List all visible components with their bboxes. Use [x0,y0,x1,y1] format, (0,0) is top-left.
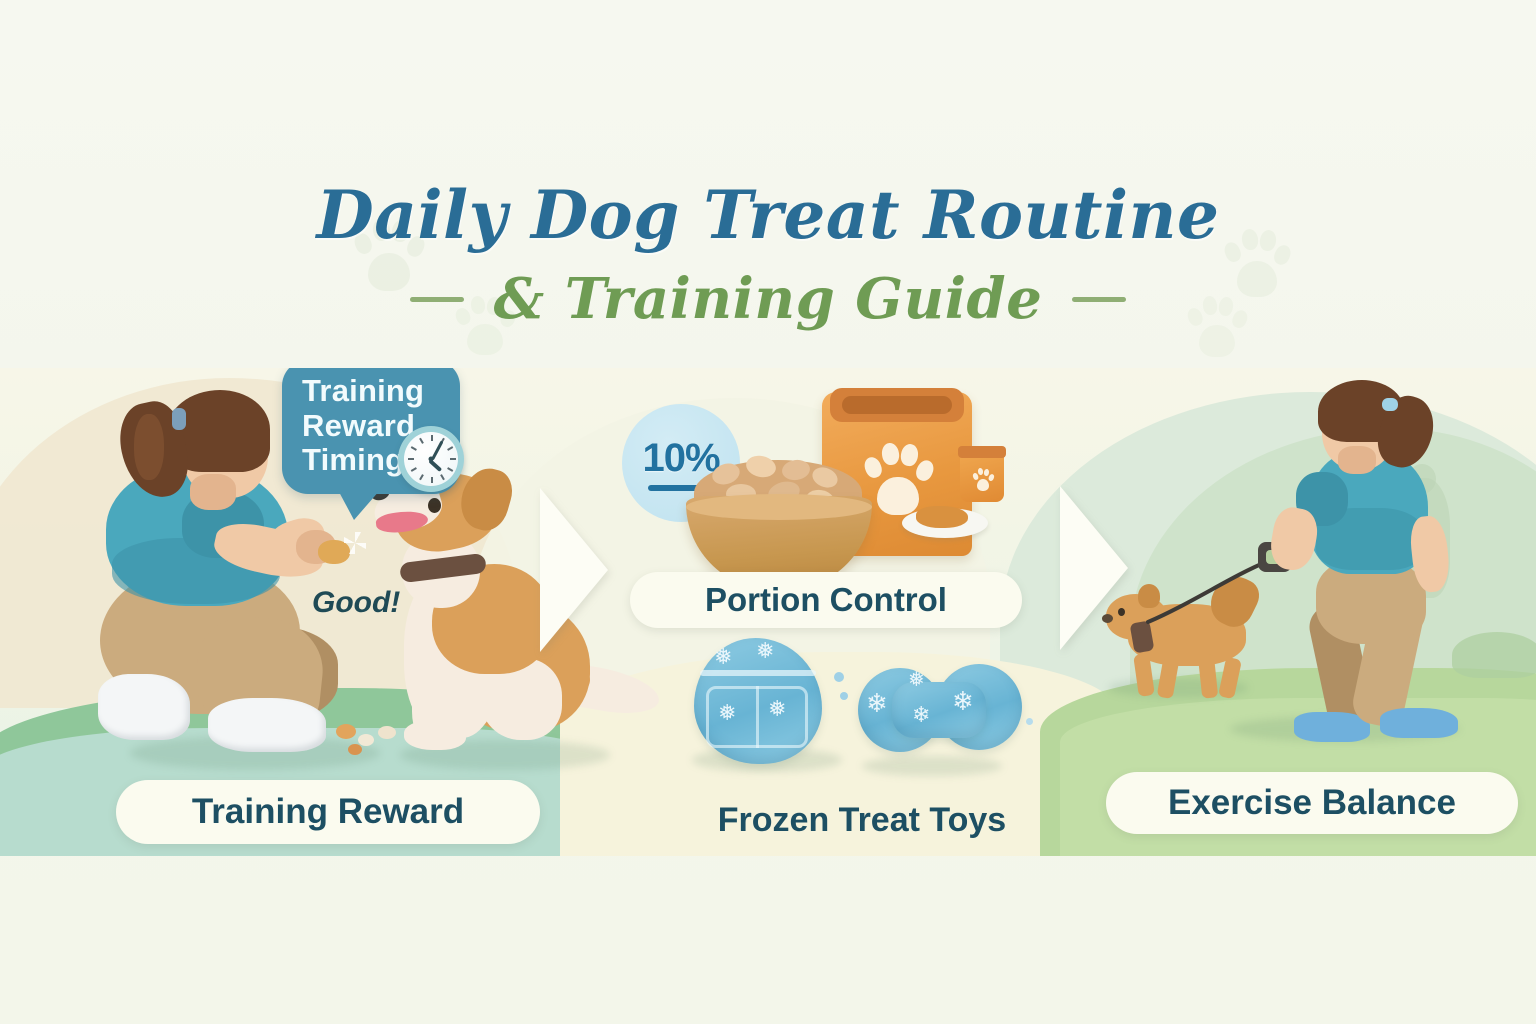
food-bowl-rim [686,494,872,520]
woman-ponytail-highlight [134,414,164,480]
label-frozen-treat-toys-text: Frozen Treat Toys [718,801,1006,840]
ground-treat [358,734,374,746]
walker-hair-tie [1382,398,1398,411]
treat-sparkle-icon [344,532,366,554]
toy-shadow-right [862,756,1002,776]
walking-dog-eye [1118,608,1125,616]
infographic-canvas: Daily Dog Treat Routine & Training Guide [0,0,1536,1024]
dog-eye [428,498,441,513]
ground-treat [378,726,396,739]
label-exercise-balance-text: Exercise Balance [1168,783,1456,823]
walker-shoe-front [1380,708,1458,738]
illustration-band: 10% [0,368,1536,856]
title-block: Daily Dog Treat Routine & Training Guide [0,176,1536,332]
snowflake-icon: ❅ [768,698,786,720]
snowflake-icon: ❅ [718,702,736,724]
label-exercise-balance: Exercise Balance [1106,772,1518,834]
walker-neck [1338,446,1376,474]
background-bush [1452,632,1536,678]
frost-bubble [1026,718,1033,725]
snowflake-icon: ❄ [952,688,974,714]
label-frozen-treat-toys: Frozen Treat Toys [690,792,1034,848]
ground-treat [336,724,356,739]
label-training-reward-text: Training Reward [192,792,464,832]
hair-tie [172,408,186,430]
clock-center-pin [429,457,434,462]
woman-shoe-back [98,674,190,740]
label-training-reward: Training Reward [116,780,540,844]
snowflake-icon: ❄ [912,704,930,726]
dash-left-decoration [410,297,464,302]
jar-paw-print-icon [972,466,994,492]
bag-paw-print-icon [862,436,934,518]
snowflake-icon: ❅ [714,646,732,668]
treat-bag-top-inner [842,396,952,414]
frozen-toy-cone-band [700,670,816,676]
treat-jar-lid [958,446,1006,458]
walking-dog-nose [1102,614,1113,623]
snowflake-icon: ❅ [756,640,774,662]
dog-front-paw [404,720,466,750]
clock-icon [398,426,464,492]
page-title: Daily Dog Treat Routine [0,176,1536,254]
page-subtitle: & Training Guide [494,266,1043,332]
snowflake-icon: ❅ [908,670,925,690]
label-portion-control: Portion Control [630,572,1022,628]
flow-arrow-1-icon [540,488,608,652]
praise-text: Good! [312,586,400,620]
subtitle-row: & Training Guide [0,266,1536,332]
woman-neck [190,474,236,510]
frost-bubble [834,672,844,682]
speech-bubble-tail [338,490,380,520]
clock-face [404,432,458,486]
snowflake-icon: ❄ [866,690,888,716]
dash-right-decoration [1072,297,1126,302]
plate-treat [916,506,968,528]
woman-shoe-front [208,698,326,752]
frozen-toy-cone-divider [756,686,759,748]
ground-treat [348,744,362,755]
frost-bubble [840,692,848,700]
label-portion-control-text: Portion Control [705,581,947,619]
